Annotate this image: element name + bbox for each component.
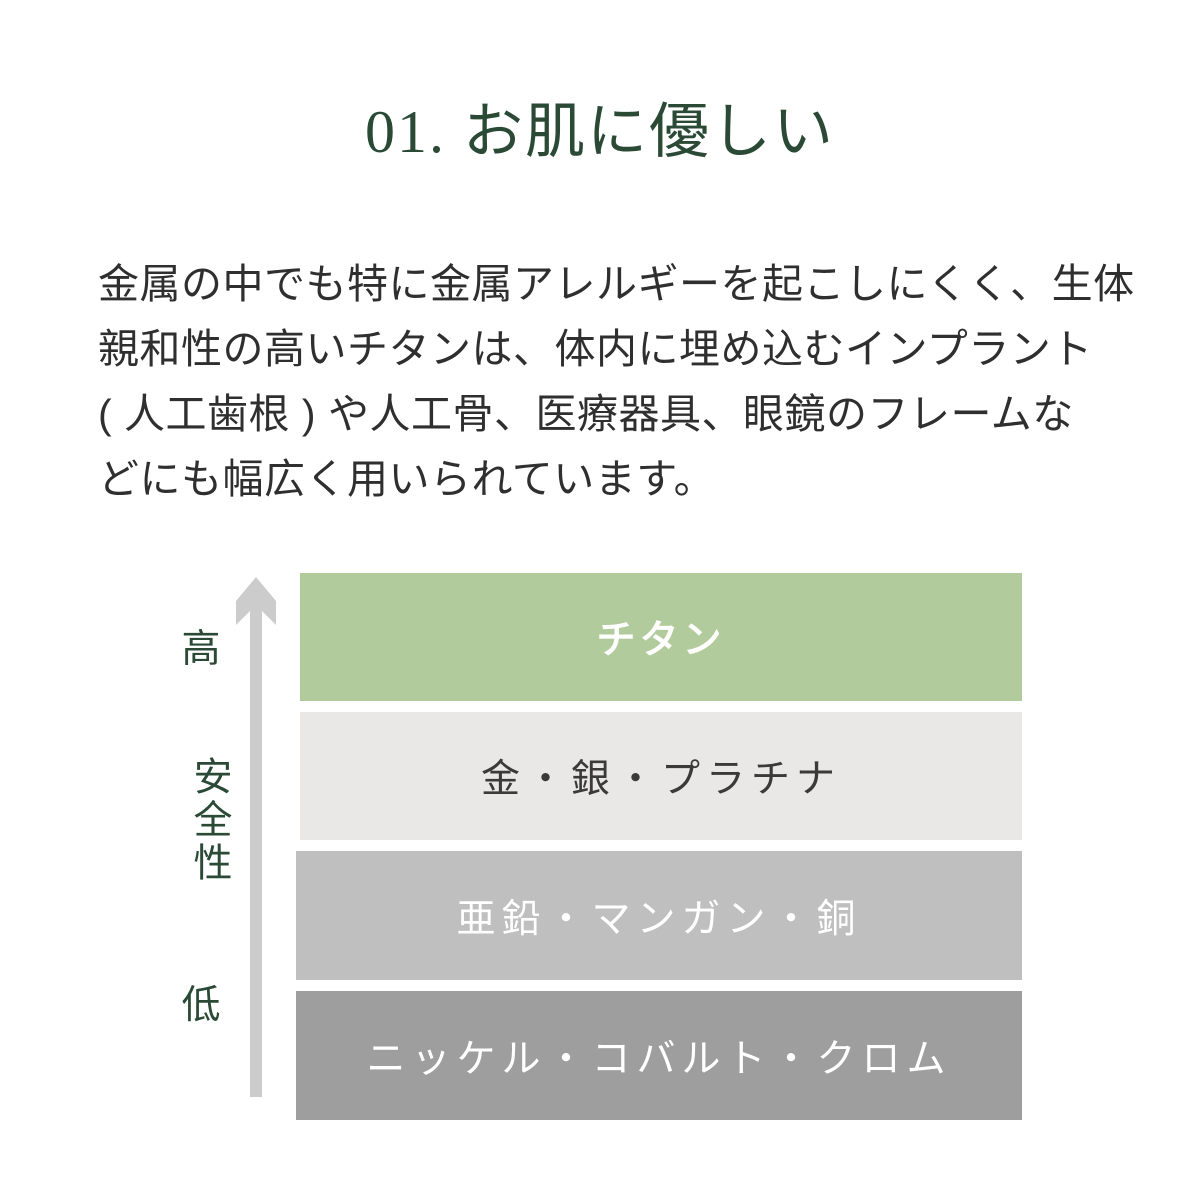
body-line-2: 親和性の高いチタンは、体内に埋め込むインプラント xyxy=(98,317,1108,382)
bar-nickel-cobalt-chrome[interactable]: ニッケル・コバルト・クロム xyxy=(296,991,1022,1120)
bar-label-zinc-manganese-copper: 亜鉛・マンガン・銅 xyxy=(456,888,861,944)
axis-label-high: 高 xyxy=(170,627,232,673)
body-line-3: ( 人工歯根 ) や人工骨、医療器具、眼鏡のフレームな xyxy=(98,382,1108,447)
bar-label-nickel-cobalt-chrome: ニッケル・コバルト・クロム xyxy=(366,1028,951,1084)
bar-gold-silver-platinum[interactable]: 金・銀・プラチナ xyxy=(300,712,1022,840)
body-line-1: 金属の中でも特に金属アレルギーを起こしにくく、生体 xyxy=(98,252,1108,317)
up-arrow-icon xyxy=(236,577,276,1097)
metal-safety-bars: チタン 金・銀・プラチナ 亜鉛・マンガン・銅 ニッケル・コバルト・クロム xyxy=(296,573,1026,1101)
bar-zinc-manganese-copper[interactable]: 亜鉛・マンガン・銅 xyxy=(296,851,1022,980)
safety-axis-labels: 高 安全性 低 xyxy=(170,565,232,1095)
bar-titanium[interactable]: チタン xyxy=(300,573,1022,701)
body-line-4: どにも幅広く用いられています。 xyxy=(98,447,1108,512)
body-paragraph: 金属の中でも特に金属アレルギーを起こしにくく、生体 親和性の高いチタンは、体内に… xyxy=(98,252,1108,512)
page-title: 01. お肌に優しい xyxy=(0,96,1200,168)
axis-label-low: 低 xyxy=(170,983,232,1029)
axis-label-safety: 安全性 xyxy=(170,740,232,900)
bar-label-titanium: チタン xyxy=(596,609,725,665)
safety-ranking-chart: 高 安全性 低 チタン 金・銀・プラチナ 亜鉛・マンガン・銅 ニッケル・コバルト… xyxy=(0,565,1200,1105)
bar-label-gold-silver-platinum: 金・銀・プラチナ xyxy=(481,748,841,804)
